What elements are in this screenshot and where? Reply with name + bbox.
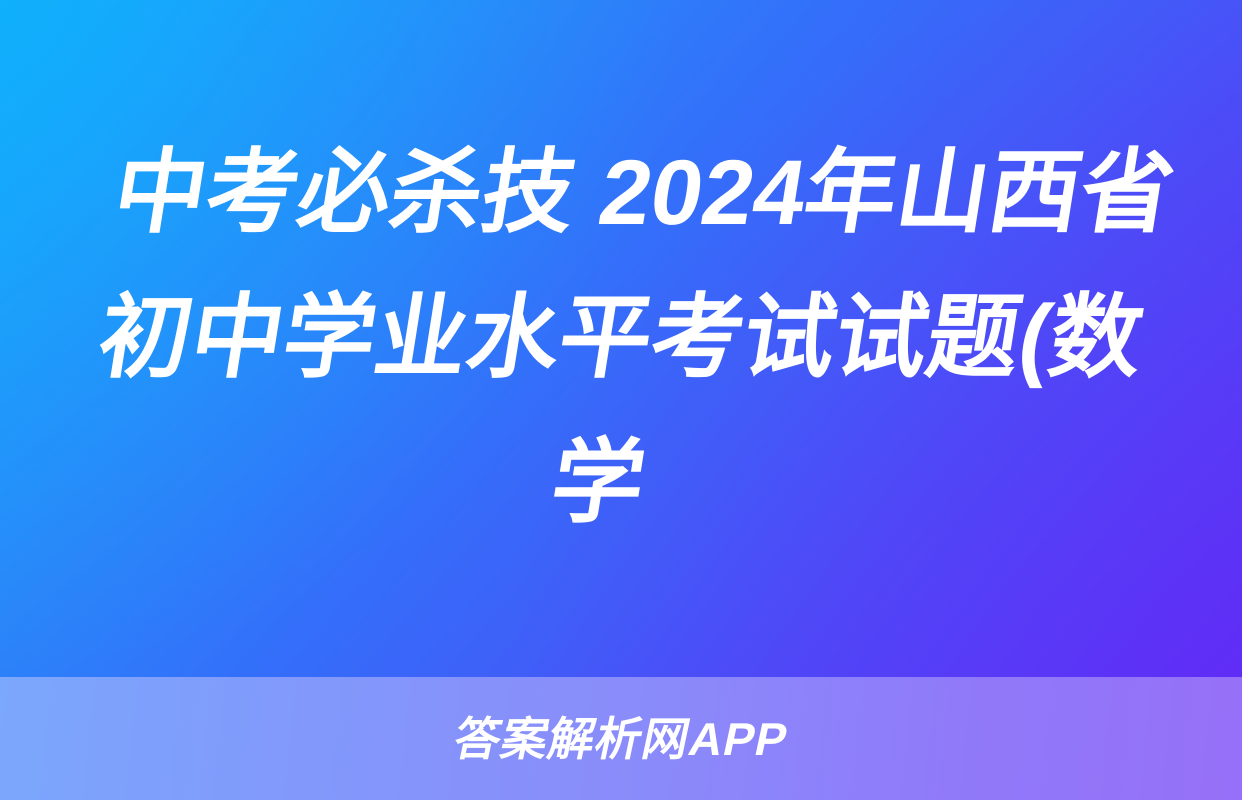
- cover-card: 中考必杀技 2024年山西省初中学业水平考试试题(数学 答案解析网APP: [0, 0, 1242, 800]
- app-brand-label: 答案解析网APP: [450, 716, 792, 762]
- footer-bar: 答案解析网APP: [0, 677, 1242, 800]
- page-title: 中考必杀技 2024年山西省初中学业水平考试试题(数学: [37, 121, 1206, 556]
- hero-banner: 中考必杀技 2024年山西省初中学业水平考试试题(数学: [0, 0, 1242, 677]
